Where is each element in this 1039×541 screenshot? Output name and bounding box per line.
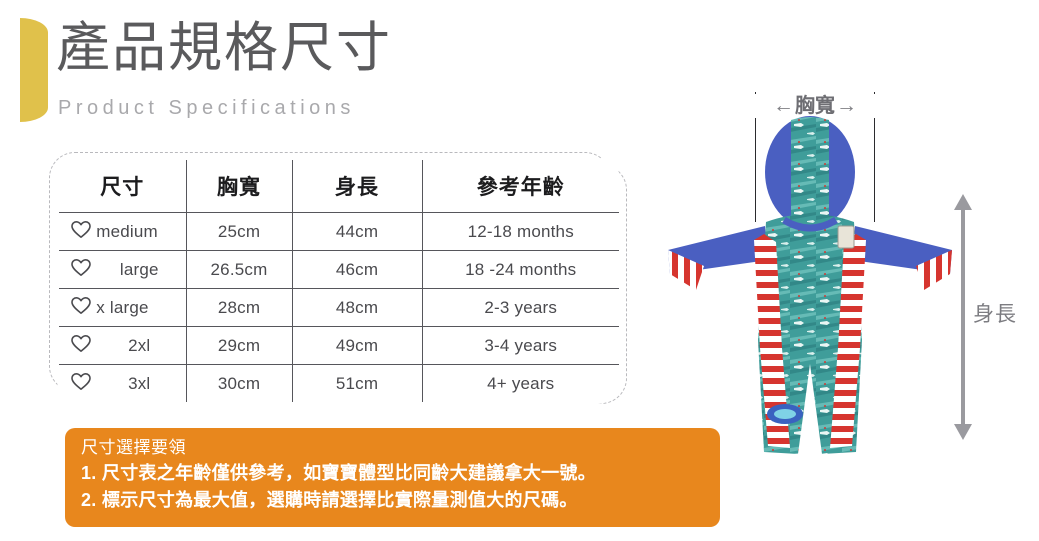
cell-length: 44cm: [292, 213, 422, 251]
cell-chest: 30cm: [186, 365, 292, 404]
cell-age: 18 -24 months: [422, 251, 620, 289]
column-header-length: 身長: [292, 159, 422, 213]
column-header-chest: 胸寬: [186, 159, 292, 213]
table-row: medium 25cm 44cm 12-18 months: [58, 213, 620, 251]
size-table: 尺寸 胸寬 身長 參考年齡 medium: [57, 158, 621, 404]
double-arrow-vertical-icon: [953, 194, 973, 440]
cell-length: 51cm: [292, 365, 422, 404]
cell-size: medium: [58, 213, 186, 251]
size-label: large: [96, 260, 182, 280]
body-length-label: 身長: [973, 298, 1017, 328]
column-header-size: 尺寸: [58, 159, 186, 213]
column-header-age: 參考年齡: [422, 159, 620, 213]
cell-size: 2xl: [58, 327, 186, 365]
cell-chest: 28cm: [186, 289, 292, 327]
cell-size: 3xl: [58, 365, 186, 404]
size-label: x large: [96, 298, 182, 318]
note-line-2: 2. 標示尺寸為最大值，選購時請選擇比實際量測值大的尺碼。: [81, 487, 704, 514]
note-line-1: 1. 尺寸表之年齡僅供參考，如寶寶體型比同齡大建議拿大一號。: [81, 460, 704, 487]
accent-shape: [20, 18, 48, 122]
product-photo-area: ← 胸寬 →: [660, 78, 1039, 458]
heart-icon: [70, 258, 92, 282]
cell-age: 3-4 years: [422, 327, 620, 365]
heart-icon: [70, 372, 92, 396]
note-title: 尺寸選擇要領: [81, 435, 704, 460]
cell-chest: 29cm: [186, 327, 292, 365]
cell-length: 49cm: [292, 327, 422, 365]
cell-age: 2-3 years: [422, 289, 620, 327]
size-label: 3xl: [96, 374, 182, 394]
size-label: medium: [96, 222, 182, 242]
cell-chest: 26.5cm: [186, 251, 292, 289]
heart-icon: [70, 334, 92, 358]
table-row: 2xl 29cm 49cm 3-4 years: [58, 327, 620, 365]
cell-length: 48cm: [292, 289, 422, 327]
cell-chest: 25cm: [186, 213, 292, 251]
cell-age: 12-18 months: [422, 213, 620, 251]
heart-icon: [70, 296, 92, 320]
table-row: x large 28cm 48cm 2-3 years: [58, 289, 620, 327]
cell-age: 4+ years: [422, 365, 620, 404]
page-title: 產品規格尺寸: [56, 17, 392, 79]
page-subtitle: Product Specifications: [58, 95, 355, 121]
table-row: large 26.5cm 46cm 18 -24 months: [58, 251, 620, 289]
size-guidance-note: 尺寸選擇要領 1. 尺寸表之年齡僅供參考，如寶寶體型比同齡大建議拿大一號。 2.…: [65, 428, 720, 527]
table-row: 3xl 30cm 51cm 4+ years: [58, 365, 620, 404]
cell-length: 46cm: [292, 251, 422, 289]
cell-size: large: [58, 251, 186, 289]
heart-icon: [70, 220, 92, 244]
table-header-row: 尺寸 胸寬 身長 參考年齡: [58, 159, 620, 213]
size-label: 2xl: [96, 336, 182, 356]
product-garment-image: [660, 114, 960, 458]
body-length-measure: 身長: [939, 194, 1009, 440]
size-table-container: 尺寸 胸寬 身長 參考年齡 medium: [57, 158, 619, 398]
cell-size: x large: [58, 289, 186, 327]
product-specifications-page: 產品規格尺寸 Product Specifications 尺寸 胸寬 身長 參…: [0, 0, 1039, 541]
